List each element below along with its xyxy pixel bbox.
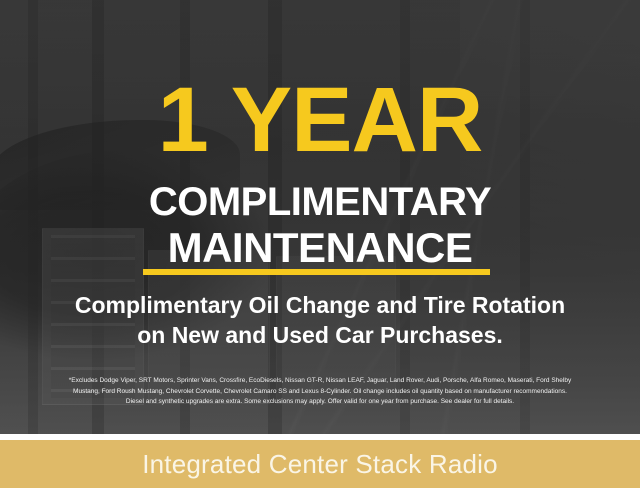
banner-label-integrated-center-stack-radio: Integrated Center Stack Radio: [142, 449, 498, 479]
tagline-line-1: Complimentary Oil Change and Tire Rotati…: [18, 290, 622, 320]
disclaimer-line-2: Mustang, Ford Roush Mustang, Chevrolet C…: [10, 387, 630, 398]
subheadline-group: COMPLIMENTARY MAINTENANCE: [0, 180, 640, 271]
hero-image: 1 YEAR COMPLIMENTARY MAINTENANCE Complim…: [0, 0, 640, 434]
disclaimer-line-1: *Excludes Dodge Viper, SRT Motors, Sprin…: [10, 376, 630, 387]
hero-text-content: 1 YEAR COMPLIMENTARY MAINTENANCE Complim…: [0, 0, 640, 434]
promo-advertisement: 1 YEAR COMPLIMENTARY MAINTENANCE Complim…: [0, 0, 640, 488]
yellow-divider-bar: [143, 269, 490, 275]
disclaimer-line-3: Diesel and synthetic upgrades are extra.…: [10, 397, 630, 408]
disclaimer-fine-print: *Excludes Dodge Viper, SRT Motors, Sprin…: [10, 376, 630, 408]
subheadline-maintenance: MAINTENANCE: [0, 225, 640, 271]
subheadline-complimentary: COMPLIMENTARY: [0, 180, 640, 225]
bottom-feature-banner: Integrated Center Stack Radio: [0, 440, 640, 488]
tagline-line-2: on New and Used Car Purchases.: [18, 320, 622, 350]
headline-one-year: 1 YEAR: [0, 74, 640, 166]
tagline-group: Complimentary Oil Change and Tire Rotati…: [18, 290, 622, 350]
